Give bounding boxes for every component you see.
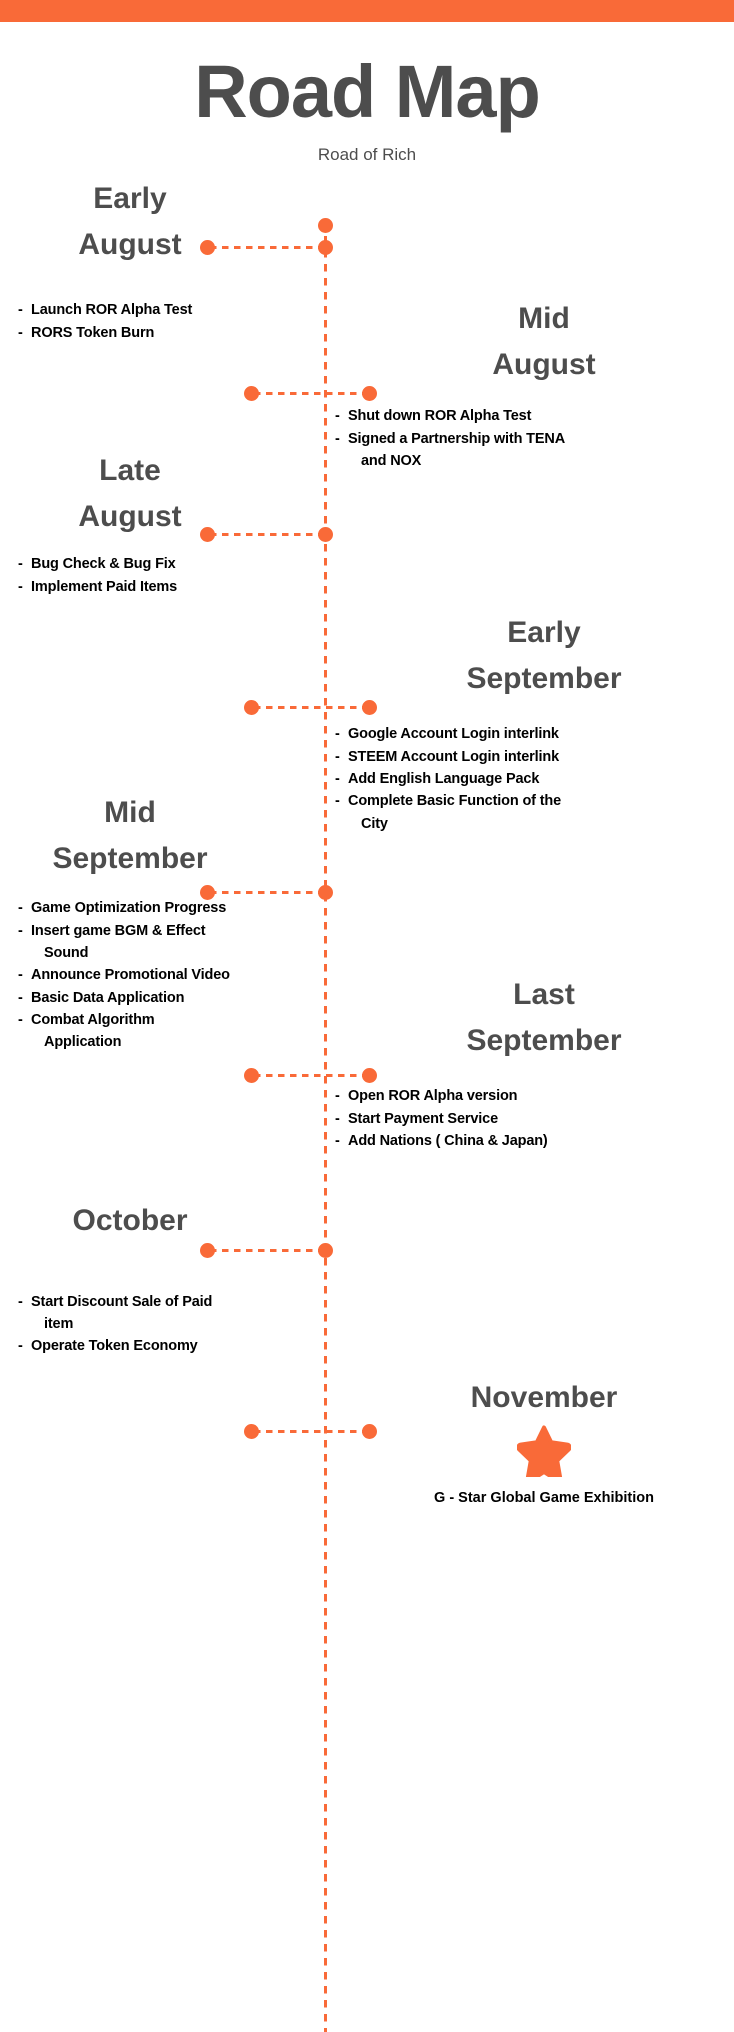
milestone-heading-line2: September bbox=[354, 1018, 734, 1064]
spine-node-mid-september bbox=[318, 885, 333, 900]
page-header: Road Map Road of Rich bbox=[0, 55, 734, 165]
page-title: Road Map bbox=[0, 55, 734, 129]
list-item: -Implement Paid Items bbox=[18, 576, 320, 598]
milestone-heading-line2: August bbox=[0, 494, 260, 540]
milestone-early-august: Early August -Launch ROR Alpha Test -ROR… bbox=[0, 176, 320, 344]
milestone-heading-line1: November bbox=[354, 1375, 734, 1421]
list-item: -Start Payment Service bbox=[335, 1108, 734, 1130]
milestone-heading-line1: Early bbox=[0, 176, 260, 222]
list-item: -Google Account Login interlink bbox=[335, 723, 734, 745]
milestone-november: November G - Star Global Game Exhibition bbox=[330, 1375, 734, 1506]
list-item-text: Open ROR Alpha version bbox=[348, 1088, 517, 1104]
list-item-text: Start Payment Service bbox=[348, 1111, 498, 1127]
bullet-marker: - bbox=[335, 768, 340, 790]
bullet-marker: - bbox=[335, 1085, 340, 1107]
milestone-bullets: -Google Account Login interlink - STEEM … bbox=[330, 723, 734, 835]
list-item-text: Game Optimization Progress bbox=[31, 900, 226, 916]
spine-node-october bbox=[318, 1243, 333, 1258]
list-item-continuation: Sound bbox=[31, 942, 320, 964]
list-item-text: Combat Algorithm bbox=[31, 1012, 155, 1028]
spine-node-late-august bbox=[318, 527, 333, 542]
milestone-heading-line2: September bbox=[0, 836, 260, 882]
bullet-marker: - bbox=[335, 428, 340, 450]
bullet-marker: - bbox=[18, 897, 23, 919]
list-item: -Add English Language Pack bbox=[335, 768, 734, 790]
milestone-heading-line1: Mid bbox=[0, 790, 260, 836]
list-item-text: Add English Language Pack bbox=[348, 771, 539, 787]
milestone-bullets: -Shut down ROR Alpha Test -Signed a Part… bbox=[330, 405, 734, 472]
star-icon-wrapper bbox=[330, 1425, 734, 1482]
bullet-marker: - bbox=[18, 299, 23, 321]
exhibition-note: G - Star Global Game Exhibition bbox=[330, 1490, 734, 1506]
spine-node-early-august bbox=[318, 240, 333, 255]
milestone-last-september: Last September -Open ROR Alpha version -… bbox=[330, 972, 734, 1152]
milestone-heading: Mid September bbox=[0, 790, 320, 881]
list-item: -Open ROR Alpha version bbox=[335, 1085, 734, 1107]
list-item-text: Launch ROR Alpha Test bbox=[31, 302, 192, 318]
milestone-bullets: -Launch ROR Alpha Test -RORS Token Burn bbox=[0, 299, 320, 344]
list-item-text: Announce Promotional Video bbox=[31, 967, 230, 983]
milestone-heading: Early September bbox=[330, 610, 734, 701]
bullet-marker: - bbox=[335, 790, 340, 812]
milestone-heading-line1: October bbox=[0, 1198, 260, 1244]
list-item-text: STEEM Account Login interlink bbox=[348, 749, 559, 765]
bullet-marker: - bbox=[335, 723, 340, 745]
top-accent-bar bbox=[0, 0, 734, 22]
milestone-heading-line2: August bbox=[354, 342, 734, 388]
list-item: -Basic Data Application bbox=[18, 987, 320, 1009]
bullet-marker: - bbox=[335, 746, 340, 768]
page-subtitle: Road of Rich bbox=[0, 145, 734, 165]
list-item: -Announce Promotional Video bbox=[18, 964, 320, 986]
list-item-continuation: and NOX bbox=[348, 450, 734, 472]
list-item: -Bug Check & Bug Fix bbox=[18, 553, 320, 575]
list-item-text: Add Nations ( China & Japan) bbox=[348, 1133, 548, 1149]
list-item-text: RORS Token Burn bbox=[31, 325, 154, 341]
list-item: -Start Discount Sale of Paid item bbox=[18, 1291, 320, 1336]
milestone-bullets: -Open ROR Alpha version -Start Payment S… bbox=[330, 1085, 734, 1152]
bullet-marker: - bbox=[18, 1335, 23, 1357]
list-item-text: Basic Data Application bbox=[31, 990, 184, 1006]
milestone-late-august: Late August -Bug Check & Bug Fix -Implem… bbox=[0, 448, 320, 598]
list-item: -Shut down ROR Alpha Test bbox=[335, 405, 734, 427]
milestone-bullets: -Bug Check & Bug Fix -Implement Paid Ite… bbox=[0, 553, 320, 598]
list-item-continuation: item bbox=[31, 1313, 320, 1335]
bullet-marker: - bbox=[335, 1130, 340, 1152]
bullet-marker: - bbox=[335, 1108, 340, 1130]
list-item: -Complete Basic Function of the City bbox=[335, 790, 734, 835]
list-item: -Add Nations ( China & Japan) bbox=[335, 1130, 734, 1152]
milestone-october: October -Start Discount Sale of Paid ite… bbox=[0, 1198, 320, 1358]
bullet-marker: - bbox=[18, 1009, 23, 1031]
list-item: -Game Optimization Progress bbox=[18, 897, 320, 919]
milestone-mid-september: Mid September -Game Optimization Progres… bbox=[0, 790, 320, 1053]
milestone-mid-august: Mid August -Shut down ROR Alpha Test -Si… bbox=[330, 296, 734, 472]
milestone-heading: Mid August bbox=[330, 296, 734, 387]
milestone-heading-line1: Early bbox=[354, 610, 734, 656]
list-item-text: Operate Token Economy bbox=[31, 1338, 198, 1354]
milestone-bullets: -Start Discount Sale of Paid item -Opera… bbox=[0, 1291, 320, 1358]
list-item-text: Complete Basic Function of the bbox=[348, 793, 561, 809]
milestone-heading: October bbox=[0, 1198, 320, 1244]
bullet-marker: - bbox=[18, 576, 23, 598]
milestone-heading: Late August bbox=[0, 448, 320, 539]
bullet-marker: - bbox=[18, 322, 23, 344]
star-icon bbox=[517, 1425, 571, 1477]
list-item-text: Google Account Login interlink bbox=[348, 726, 559, 742]
bullet-marker: - bbox=[18, 1291, 23, 1313]
list-item-text: Implement Paid Items bbox=[31, 579, 177, 595]
list-item: -Launch ROR Alpha Test bbox=[18, 299, 320, 321]
milestone-heading: November bbox=[330, 1375, 734, 1421]
milestone-heading: Last September bbox=[330, 972, 734, 1063]
milestone-heading-line1: Late bbox=[0, 448, 260, 494]
list-item: -Signed a Partnership with TENA and NOX bbox=[335, 428, 734, 473]
milestone-heading: Early August bbox=[0, 176, 320, 267]
list-item: -Combat Algorithm Application bbox=[18, 1009, 320, 1054]
milestone-heading-line1: Mid bbox=[354, 296, 734, 342]
bullet-marker: - bbox=[335, 405, 340, 427]
list-item-text: Bug Check & Bug Fix bbox=[31, 556, 176, 572]
list-item-text: Start Discount Sale of Paid bbox=[31, 1294, 212, 1310]
list-item: - STEEM Account Login interlink bbox=[335, 746, 734, 768]
bullet-marker: - bbox=[18, 920, 23, 942]
list-item: -Insert game BGM & Effect Sound bbox=[18, 920, 320, 965]
bullet-marker: - bbox=[18, 987, 23, 1009]
list-item: -RORS Token Burn bbox=[18, 322, 320, 344]
list-item-continuation: City bbox=[348, 813, 734, 835]
list-item: -Operate Token Economy bbox=[18, 1335, 320, 1357]
milestone-heading-line2: September bbox=[354, 656, 734, 702]
list-item-text: Insert game BGM & Effect bbox=[31, 923, 205, 939]
list-item-text: Signed a Partnership with TENA bbox=[348, 431, 565, 447]
milestone-heading-line1: Last bbox=[354, 972, 734, 1018]
milestone-early-september: Early September -Google Account Login in… bbox=[330, 610, 734, 835]
milestone-heading-line2: August bbox=[0, 222, 260, 268]
bullet-marker: - bbox=[18, 553, 23, 575]
list-item-text: Shut down ROR Alpha Test bbox=[348, 408, 531, 424]
bullet-marker: - bbox=[18, 964, 23, 986]
timeline-spine bbox=[324, 222, 327, 2032]
list-item-continuation: Application bbox=[31, 1031, 320, 1053]
milestone-bullets: -Game Optimization Progress -Insert game… bbox=[0, 897, 320, 1053]
